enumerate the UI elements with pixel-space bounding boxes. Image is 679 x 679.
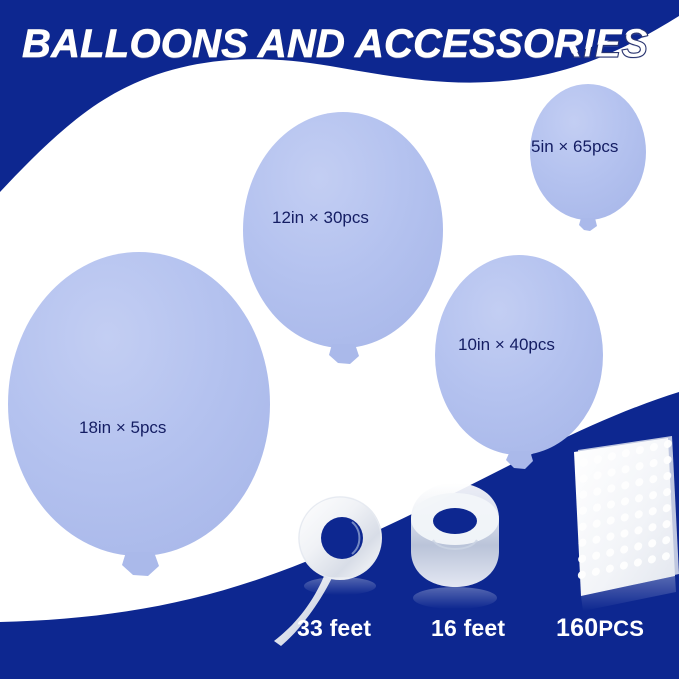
balloon-18in-label: 18in × 5pcs	[79, 418, 166, 438]
glue-dots-unit: PCS	[598, 616, 644, 641]
tape-reflection	[413, 587, 497, 609]
ribbon-reflection	[304, 577, 376, 595]
balloon-10in-label: 10in × 40pcs	[458, 335, 555, 355]
ribbon-core-hole	[321, 517, 363, 559]
balloon-tape-caption: 16 feet	[431, 615, 505, 642]
tape-hole	[433, 508, 477, 534]
balloon-12in-label: 12in × 30pcs	[272, 208, 369, 228]
accessories-group	[0, 0, 679, 679]
glue-dots-count: 160	[556, 614, 598, 642]
product-infographic: BALLOONS AND ACCESSORIES BALLOONS AND AC…	[0, 0, 679, 679]
balloon-5in-label: 5in × 65pcs	[531, 137, 618, 157]
ribbon-caption: 33 feet	[297, 615, 371, 642]
glue-dot-sheet-icon	[574, 436, 679, 611]
tape-roll-icon	[411, 483, 499, 609]
glue-dots-caption: 160PCS	[556, 614, 644, 643]
